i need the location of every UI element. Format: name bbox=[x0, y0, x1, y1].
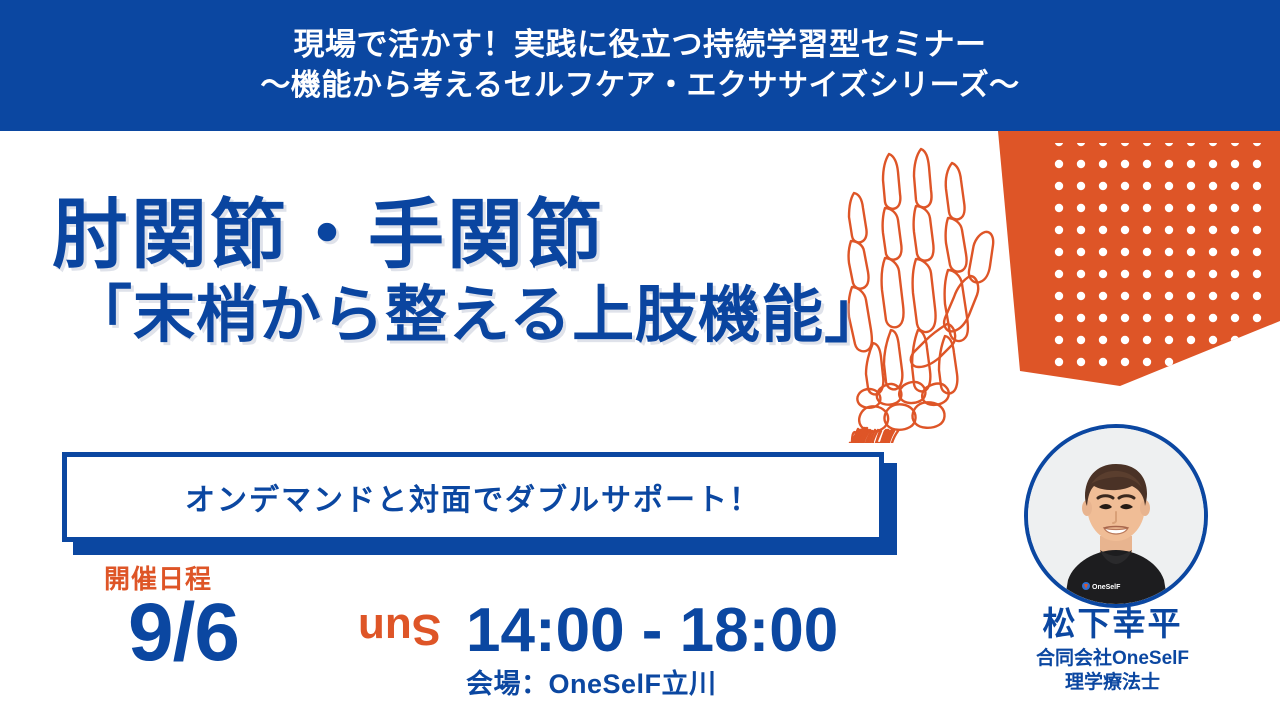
schedule-date-group: 開催日程 9/6 bbox=[104, 566, 239, 672]
presenter-title: 理学療法士 bbox=[975, 671, 1250, 695]
presenter-organization: 合同会社OneSelF bbox=[975, 647, 1250, 671]
header-band: 現場で活かす！実践に役立つ持続学習型セミナー 〜機能から考えるセルフケア・エクサ… bbox=[0, 0, 1280, 131]
avatar: OneSelF bbox=[1024, 424, 1208, 608]
header-title-line-1: 現場で活かす！実践に役立つ持続学習型セミナー bbox=[294, 25, 987, 65]
svg-text:OneSelF: OneSelF bbox=[1092, 584, 1121, 591]
presenter-name: 松下幸平 bbox=[975, 606, 1250, 642]
page-title: 肘関節・手関節 「末梢から整える上肢機能」 bbox=[52, 196, 887, 350]
subtitle-callout-box: オンデマンドと対面でダブルサポート！ bbox=[62, 452, 884, 542]
header-text-group: 現場で活かす！実践に役立つ持続学習型セミナー 〜機能から考えるセルフケア・エクサ… bbox=[0, 0, 1280, 131]
schedule-day-of-week: Sun bbox=[358, 607, 441, 651]
page-title-line-2: 「末梢から整える上肢機能」 bbox=[52, 283, 887, 350]
schedule-day-of-week-group: Sun bbox=[358, 607, 414, 687]
schedule-time: 14:00 - 18:00 bbox=[466, 600, 838, 662]
schedule-date: 9/6 bbox=[128, 594, 239, 672]
subtitle-text: オンデマンドと対面でダブルサポート！ bbox=[185, 475, 761, 519]
schedule-time-group: 14:00 - 18:00 会場：OneSelF立川 bbox=[466, 600, 838, 698]
header-title-line-2: 〜機能から考えるセルフケア・エクササイズシリーズ〜 bbox=[260, 67, 1019, 105]
page-title-line-1: 肘関節・手関節 bbox=[52, 196, 887, 277]
subtitle-callout: オンデマンドと対面でダブルサポート！ bbox=[62, 452, 902, 558]
schedule-venue: 会場：OneSelF立川 bbox=[466, 671, 838, 698]
presenter-info: 松下幸平 合同会社OneSelF 理学療法士 bbox=[975, 606, 1250, 695]
seminar-poster: 現場で活かす！実践に役立つ持続学習型セミナー 〜機能から考えるセルフケア・エクサ… bbox=[0, 0, 1280, 720]
